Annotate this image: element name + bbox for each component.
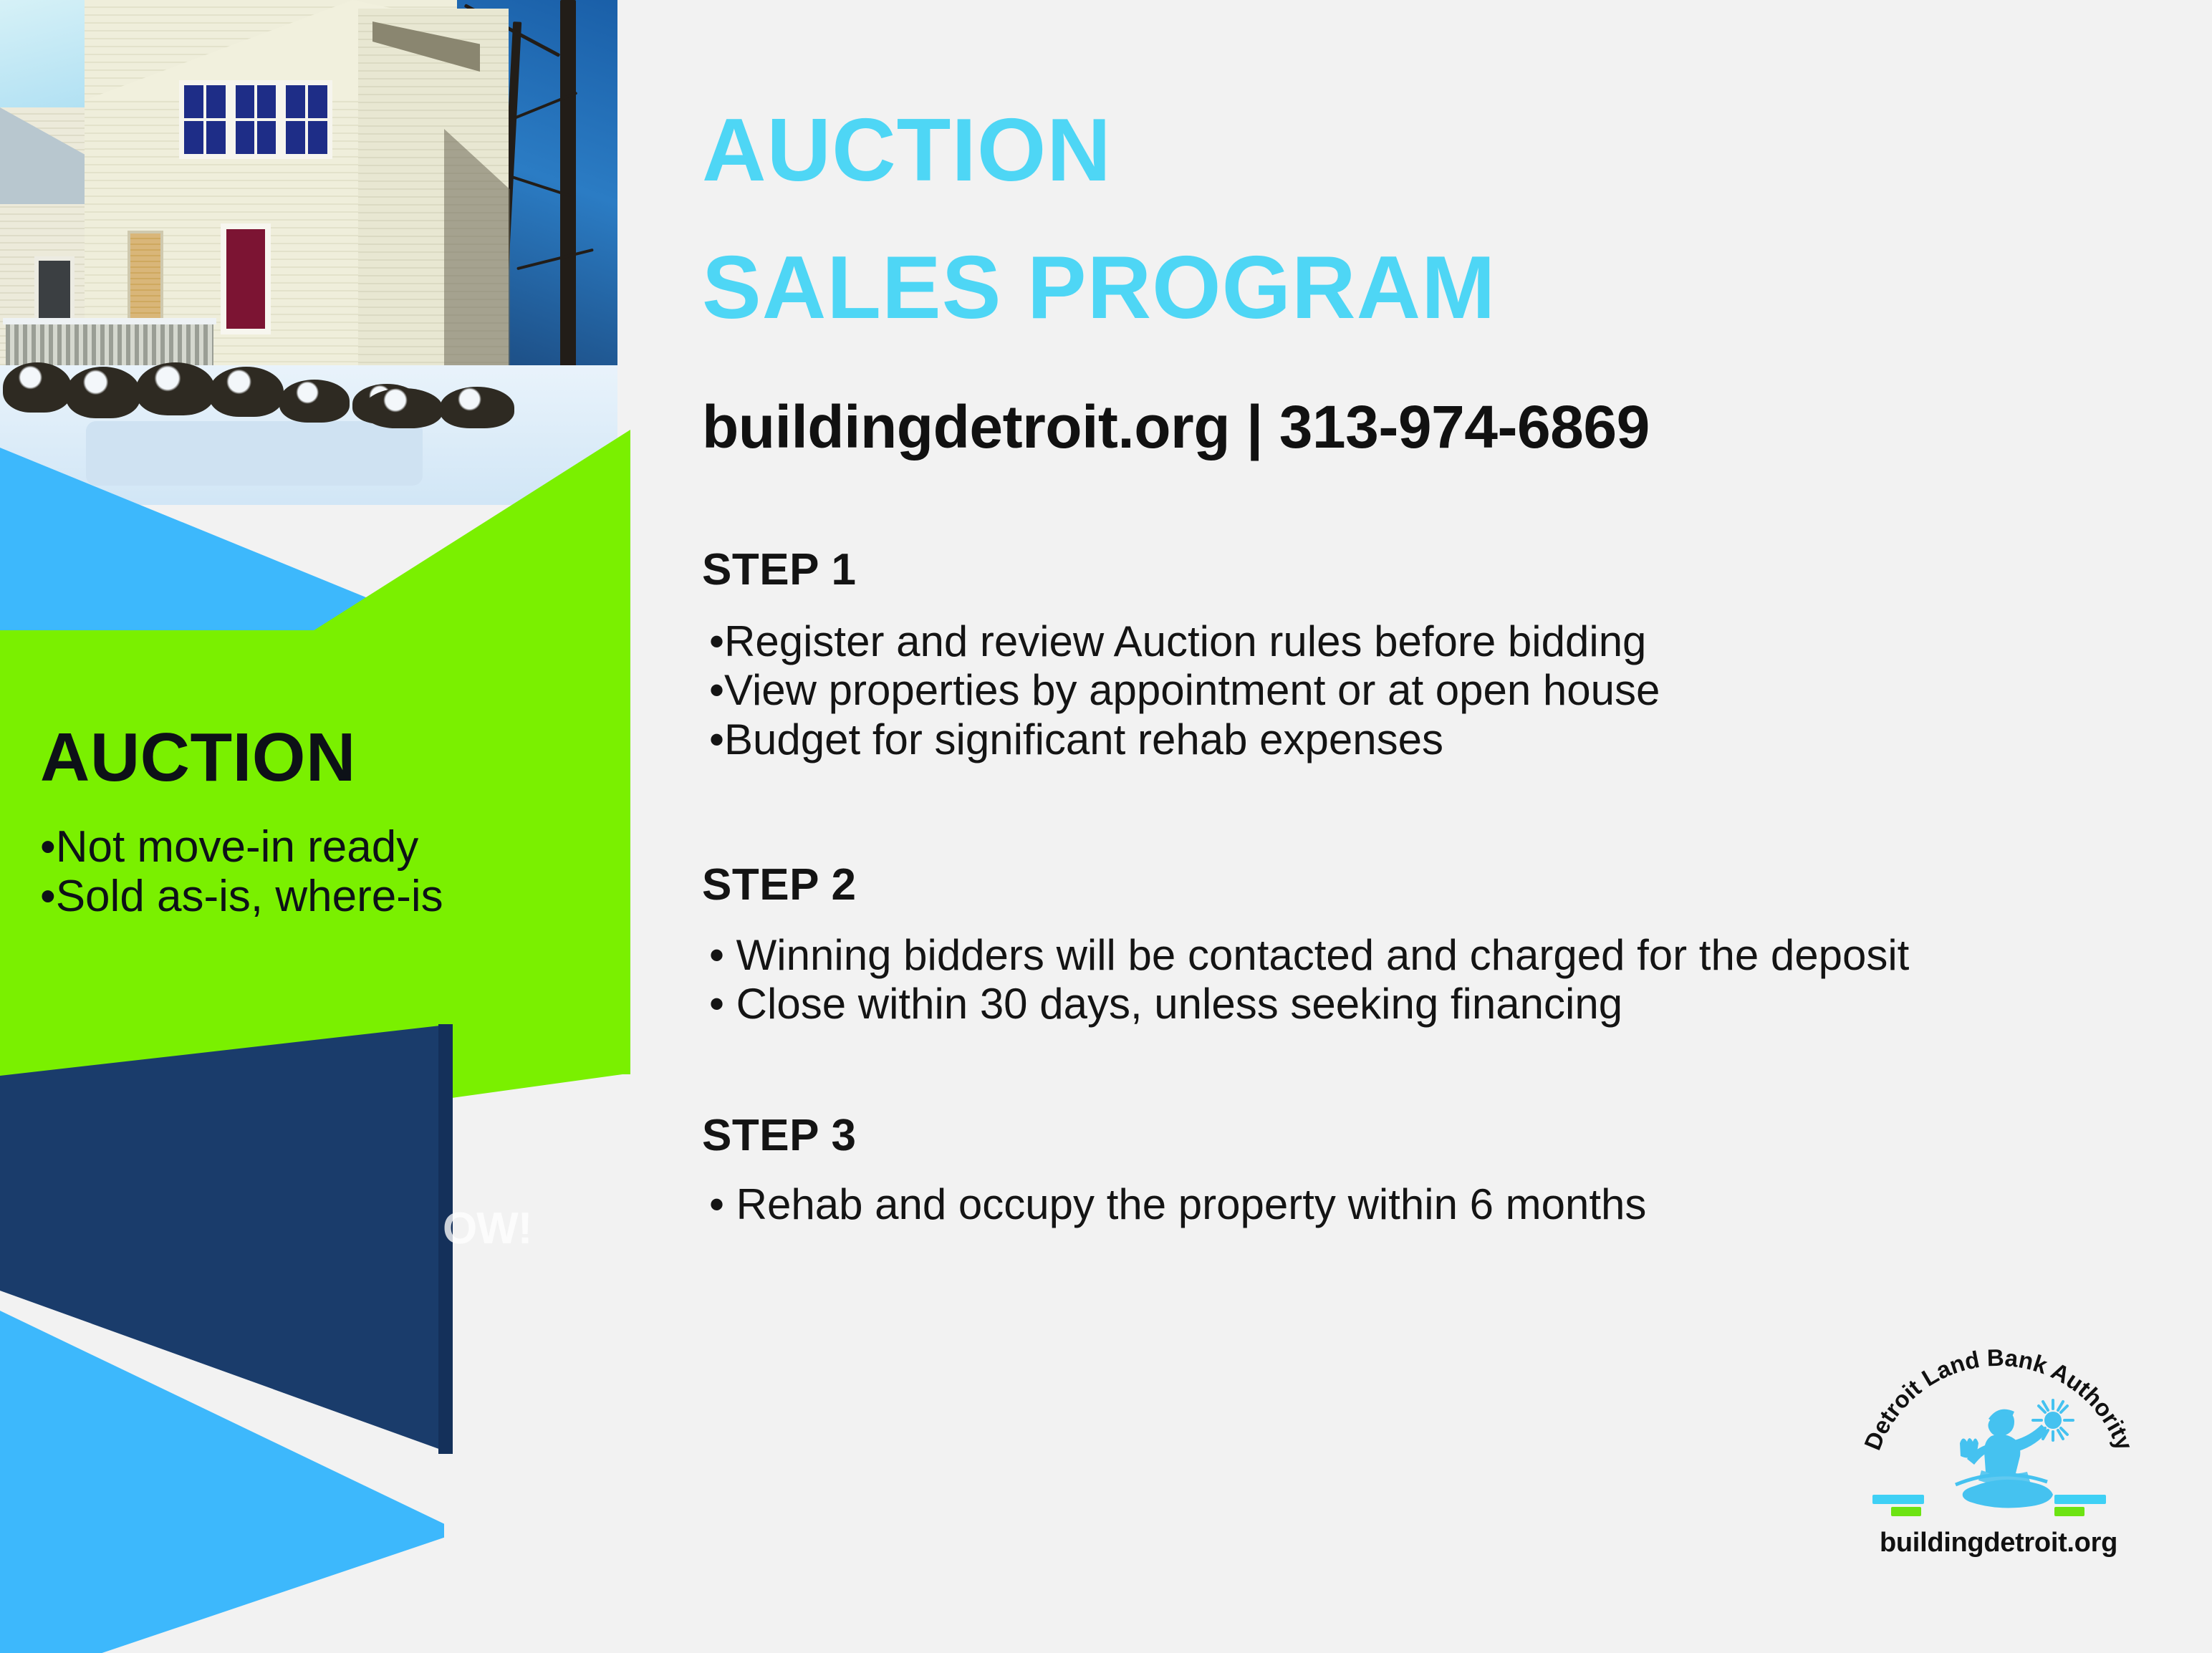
- step-3-heading: STEP 3: [702, 1110, 857, 1161]
- green-panel-title: AUCTION: [40, 723, 356, 792]
- green-panel-bullet: •Not move-in ready: [40, 822, 443, 872]
- photo-bush: [209, 367, 284, 417]
- photo-red-door: [221, 223, 271, 334]
- photo-bush: [440, 387, 514, 428]
- photo-sidewalk: [86, 421, 423, 486]
- step-1-bullet: •Budget for significant rehab expenses: [709, 715, 1660, 764]
- logo-dash-cyan-left: [1872, 1495, 1924, 1504]
- headline-line-2: SALES PROGRAM: [702, 244, 1496, 332]
- logo-dash-cyan-right: [2054, 1495, 2106, 1504]
- headline-line-1: AUCTION: [702, 106, 1112, 195]
- green-panel-bullet: •Sold as-is, where-is: [40, 872, 443, 921]
- photo-bush: [3, 362, 72, 413]
- photo-upper-window-right: [281, 80, 332, 159]
- step-2-bullet: • Close within 30 days, unless seeking f…: [709, 980, 1909, 1028]
- photo-bush: [66, 367, 140, 418]
- step-3-bullet: • Rehab and occupy the property within 6…: [709, 1180, 1646, 1229]
- detroit-land-bank-authority-logo: Detroit Land Bank Authority: [1848, 1336, 2149, 1572]
- ghost-now-text: OW!: [443, 1203, 532, 1254]
- step-2-bullet: • Winning bidders will be contacted and …: [709, 931, 1909, 980]
- step-2-bullets: • Winning bidders will be contacted and …: [709, 931, 1909, 1029]
- logo-dash-green-left: [1891, 1507, 1921, 1516]
- spirit-of-detroit-figure: [1956, 1400, 2073, 1508]
- contact-line[interactable]: buildingdetroit.org | 313-974-6869: [702, 392, 1650, 462]
- photo-upper-window-left: [179, 80, 231, 159]
- step-1-heading: STEP 1: [702, 544, 857, 595]
- step-1-bullet: •View properties by appointment or at op…: [709, 666, 1660, 715]
- photo-boarded-door: [128, 231, 163, 331]
- photo-fence-cap: [3, 318, 216, 324]
- photo-porch-fence: [6, 322, 213, 367]
- photo-upper-window-center: [231, 80, 281, 159]
- logo-dash-green-right: [2054, 1507, 2084, 1516]
- photo-bush: [279, 380, 350, 423]
- step-1-bullets: •Register and review Auction rules befor…: [709, 617, 1660, 764]
- green-panel-bullets: •Not move-in ready •Sold as-is, where-is: [40, 822, 443, 922]
- content-column: AUCTION SALES PROGRAM buildingdetroit.or…: [702, 0, 2163, 1653]
- photo-bush: [364, 388, 443, 428]
- photo-bush: [136, 362, 215, 415]
- step-2-heading: STEP 2: [702, 859, 857, 910]
- step-1-bullet: •Register and review Auction rules befor…: [709, 617, 1660, 666]
- step-3-bullets: • Rehab and occupy the property within 6…: [709, 1180, 1646, 1229]
- logo-url-text[interactable]: buildingdetroit.org: [1848, 1528, 2149, 1558]
- left-graphic-column: AUCTION •Not move-in ready •Sold as-is, …: [0, 0, 630, 1653]
- auction-flyer: AUCTION •Not move-in ready •Sold as-is, …: [0, 0, 2212, 1653]
- property-photo: [0, 0, 617, 505]
